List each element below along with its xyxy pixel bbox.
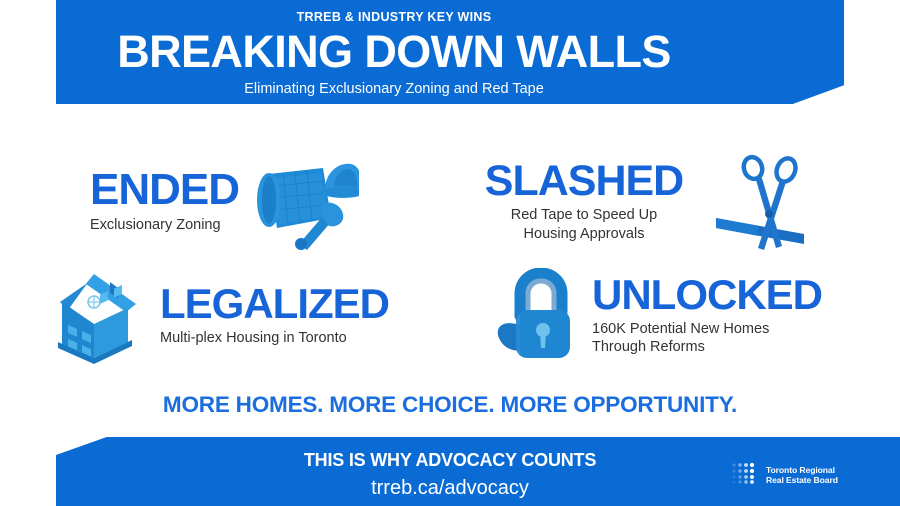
stat-headline-unlocked: UNLOCKED	[592, 275, 822, 315]
stat-text-unlocked: UNLOCKED 160K Potential New Homes Throug…	[582, 275, 822, 357]
stat-subtext-line: Housing Approvals	[511, 225, 657, 244]
stat-text-legalized: LEGALIZED Multi-plex Housing in Toronto	[148, 284, 389, 347]
trreb-logo-line-2: Real Estate Board	[766, 475, 838, 485]
stat-subtext-unlocked: 160K Potential New Homes Through Reforms	[592, 320, 769, 357]
stat-block-unlocked: UNLOCKED 160K Potential New Homes Throug…	[490, 266, 890, 366]
infographic-canvas: TRREB & INDUSTRY KEY WINS BREAKING DOWN …	[0, 0, 900, 506]
stat-subtext-ended: Exclusionary Zoning	[90, 216, 221, 235]
blueprint-hardhat-hammer-icon	[239, 152, 359, 252]
scissors-cutting-ribbon-icon	[700, 148, 820, 256]
header-eyebrow: TRREB & INDUSTRY KEY WINS	[297, 11, 492, 24]
stat-headline-legalized: LEGALIZED	[160, 284, 389, 324]
page-title: BREAKING DOWN WALLS	[117, 29, 671, 76]
house-icon	[48, 268, 148, 364]
stat-text-ended: ENDED Exclusionary Zoning	[78, 169, 239, 234]
trreb-logo-wordmark: Toronto Regional Real Estate Board	[766, 465, 838, 486]
stat-text-slashed: SLASHED Red Tape to Speed Up Housing App…	[468, 161, 700, 244]
stat-block-slashed: SLASHED Red Tape to Speed Up Housing App…	[468, 148, 868, 256]
stat-subtext-line: Through Reforms	[592, 338, 769, 357]
stat-headline-slashed: SLASHED	[485, 161, 683, 202]
padlock-icon	[490, 268, 582, 364]
stat-subtext-line: 160K Potential New Homes	[592, 320, 769, 339]
stat-block-ended: ENDED Exclusionary Zoning	[78, 152, 408, 252]
stat-block-legalized: LEGALIZED Multi-plex Housing in Toronto	[48, 268, 458, 364]
stat-headline-ended: ENDED	[90, 169, 239, 211]
stat-subtext-legalized: Multi-plex Housing in Toronto	[160, 329, 347, 348]
trreb-logo-line-1: Toronto Regional	[766, 465, 838, 475]
stat-subtext-slashed: Red Tape to Speed Up Housing Approvals	[511, 206, 657, 243]
trreb-logo: Toronto Regional Real Estate Board	[731, 460, 843, 490]
tagline: MORE HOMES. MORE CHOICE. MORE OPPORTUNIT…	[0, 392, 900, 418]
header-subtitle: Eliminating Exclusionary Zoning and Red …	[244, 82, 544, 97]
trreb-dot-matrix-logo-icon	[731, 461, 759, 490]
stat-subtext-line: Red Tape to Speed Up	[511, 206, 657, 225]
header-content: TRREB & INDUSTRY KEY WINS BREAKING DOWN …	[0, 0, 788, 104]
